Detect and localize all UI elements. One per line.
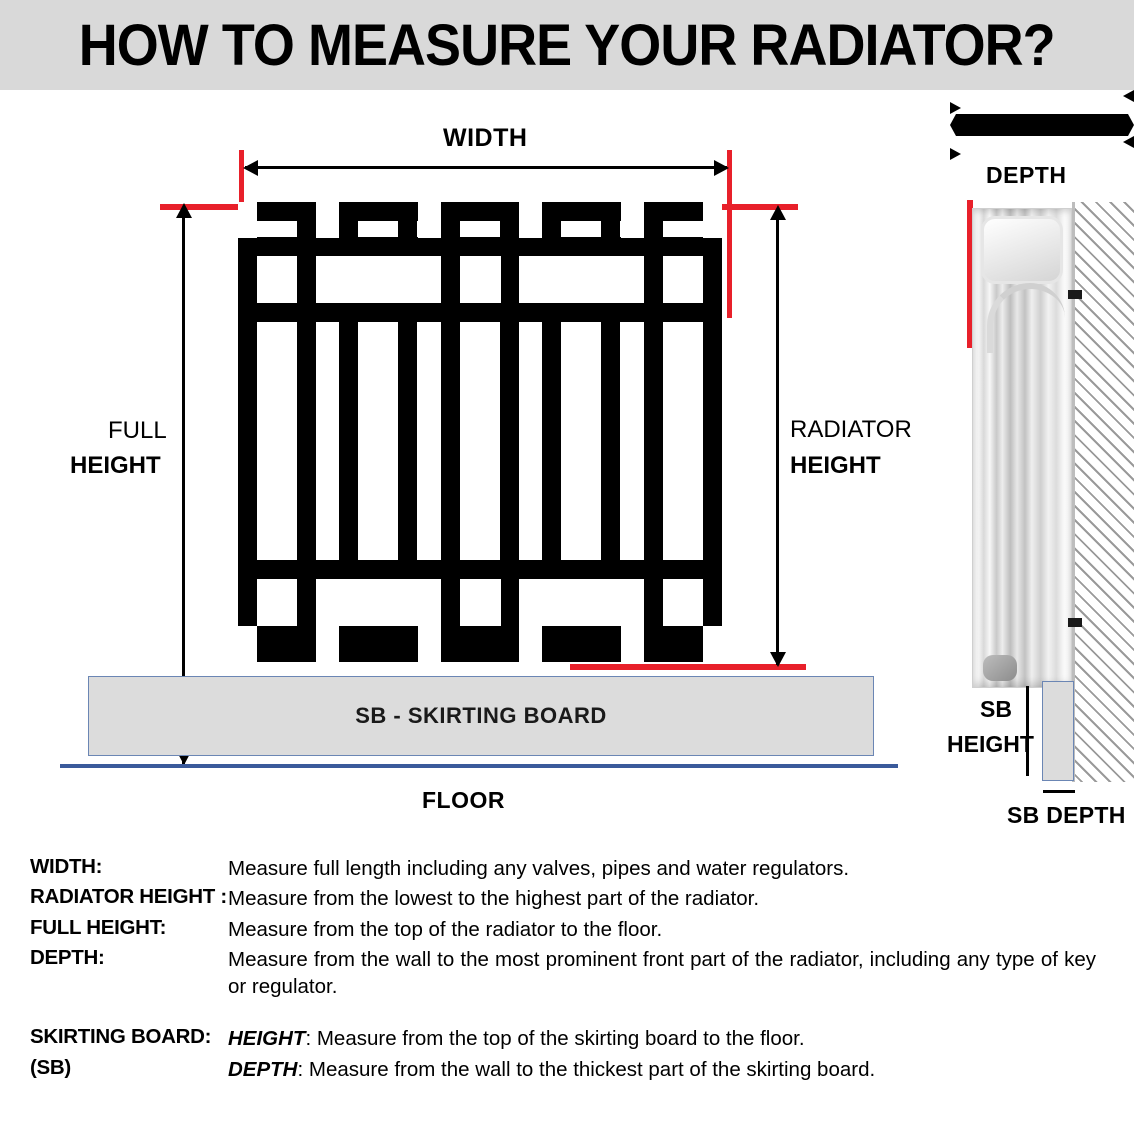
note-desc: Measure from the top of the radiator to … [228,916,1134,943]
radiator-bottom-gap [418,626,441,662]
radiator-notch [663,579,686,626]
radiator-notch [257,579,280,626]
radiator-height-arrow-line [776,210,779,665]
depth-arrow-head-left [950,90,1134,102]
label-sb-depth: SB DEPTH [1007,802,1126,829]
skirting-height-keyword: HEIGHT [228,1027,305,1050]
sb-depth-arrow-head-right [950,148,1134,160]
radiator-top-gap [238,202,257,238]
skirting-board-block: SB - SKIRTING BOARD [88,676,874,756]
sb-depth-arrow-head-left [950,136,1134,148]
page-title: HOW TO MEASURE YOUR RADIATOR? [79,12,1055,79]
sb-height-arrow-head-bottom [950,125,1134,136]
skirting-note-term-height: SKIRTING BOARD: [0,1025,228,1049]
label-full-height-line1: FULL [108,417,167,445]
width-arrow-line [245,166,727,169]
note-term: DEPTH: [0,946,228,970]
radiator-top-gap [418,202,441,238]
skirting-height-text: : Measure from the top of the skirting b… [305,1027,804,1050]
radiator-top-gap [316,202,339,238]
radiator-height-arrow-head-bottom [770,652,786,667]
radiator-bottom-gap [519,626,542,662]
radiator-notch [580,256,625,303]
radiator-side-view: DEPTH SB HEIGHT SB DEPTH [950,90,1134,835]
radiator-notch [377,579,422,626]
radiator-notch [460,256,501,303]
label-sb-height-line2: HEIGHT [947,731,1034,758]
radiator-notch [580,579,625,626]
label-depth: DEPTH [986,162,1066,189]
radiator-tie-lower [238,560,722,579]
note-term: WIDTH: [0,855,228,879]
radiator-top-gap [703,202,722,238]
page-header: HOW TO MEASURE YOUR RADIATOR? [0,0,1134,90]
label-sb-height-line1: SB [980,696,1012,723]
floor-line [60,764,898,768]
radiator-notch [460,579,501,626]
radiator-bottom-gap [238,626,257,662]
diagram-stage: WIDTH FULL HEIGHT RADIATOR HEIGHT [0,90,1134,835]
skirting-depth-keyword: DEPTH [228,1058,297,1081]
radiator-bottom-gap [703,626,722,662]
radiator-wall-bracket-top [1068,290,1082,299]
radiator-height-arrow-head-top [770,205,786,220]
width-arrow-head-right [714,160,729,176]
label-floor: FLOOR [422,787,505,814]
radiator-tie-upper [238,303,722,322]
skirting-board-side-block [1042,681,1074,781]
skirting-note-desc-height: HEIGHT: Measure from the top of the skir… [228,1025,1134,1052]
wall-hatch [1072,202,1134,782]
radiator-notch [316,579,358,626]
label-skirting-board: SB - SKIRTING BOARD [355,703,607,729]
radiator-bottom-gap [316,626,339,662]
radiator-wall-bracket-bottom [1068,618,1082,627]
depth-arrow-head-right [950,102,1134,114]
radiator-fin-curve [987,283,1065,353]
radiator-front-view [238,202,722,662]
radiator-top-gap [621,202,644,238]
radiator-tie-lower [238,626,722,645]
note-row: DEPTH: Measure from the wall to the most… [0,946,1134,1001]
skirting-note-desc-depth: DEPTH: Measure from the wall to the thic… [228,1056,1134,1083]
notes-spacer [0,1003,1134,1025]
radiator-notch [519,579,561,626]
width-arrow-head-left [243,160,258,176]
note-term: FULL HEIGHT: [0,916,228,940]
radiator-tie-upper [238,237,722,256]
radiator-top-gap [519,202,542,238]
note-desc: Measure from the wall to the most promin… [228,946,1134,1001]
skirting-note-row: (SB) DEPTH: Measure from the wall to the… [0,1056,1134,1083]
note-desc: Measure from the lowest to the highest p… [228,885,1134,912]
label-full-height-line2: HEIGHT [70,452,161,480]
note-term: RADIATOR HEIGHT : [0,885,228,909]
note-row: FULL HEIGHT: Measure from the top of the… [0,916,1134,943]
skirting-note-term-depth: (SB) [0,1056,228,1080]
note-row: RADIATOR HEIGHT : Measure from the lowes… [0,885,1134,912]
note-desc: Measure full length including any valves… [228,855,1134,882]
radiator-notch [377,256,422,303]
radiator-notch [663,256,686,303]
skirting-note-row: SKIRTING BOARD: HEIGHT: Measure from the… [0,1025,1134,1052]
radiator-notch [519,256,561,303]
label-radiator-height-line1: RADIATOR [790,416,912,444]
sb-depth-arrow-line [1043,790,1075,793]
label-width: WIDTH [443,124,527,153]
measurement-notes: WIDTH: Measure full length including any… [0,855,1134,1134]
sb-height-arrow-head-top [950,114,1134,125]
radiator-cross-section-photo [972,208,1072,688]
radiator-notch [257,256,280,303]
label-radiator-height-line2: HEIGHT [790,452,881,480]
radiator-bottom-gap [621,626,644,662]
radiator-notch [316,256,358,303]
note-row: WIDTH: Measure full length including any… [0,855,1134,882]
skirting-depth-text: : Measure from the wall to the thickest … [297,1058,875,1081]
full-height-arrow-head-top [176,203,192,218]
